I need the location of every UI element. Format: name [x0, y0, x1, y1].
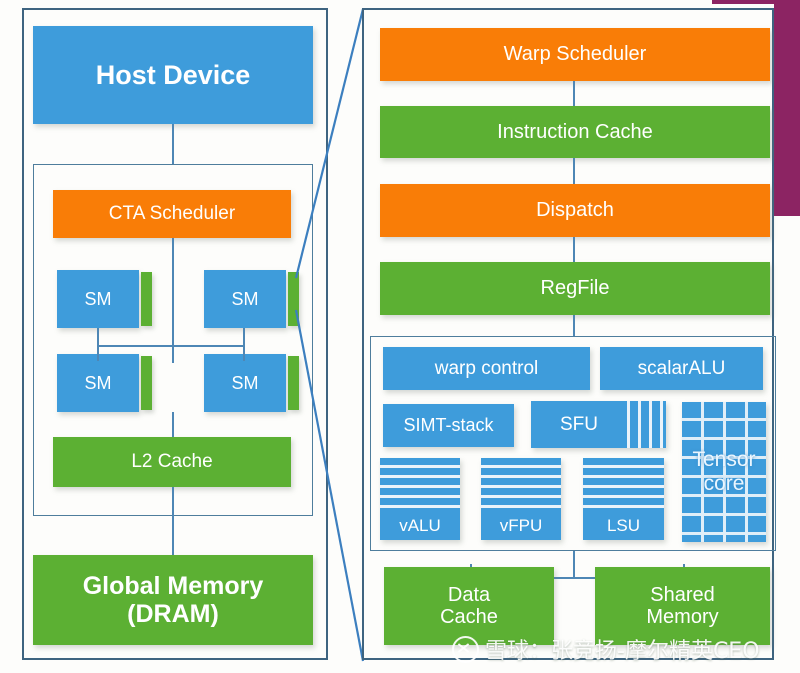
scalar-alu-label: scalarALU [638, 358, 726, 379]
warp-control-block[interactable]: warp control [383, 347, 590, 390]
sm-block-2-accent-bar [288, 272, 299, 326]
connector-l2-to-dram [172, 487, 174, 556]
tensor-core-label-line2: core [704, 472, 745, 495]
sm-block-3[interactable]: SM [57, 354, 139, 412]
sm-block-1-label: SM [85, 289, 112, 309]
gpu-architecture-diagram: Host Device CTA Scheduler SM SM SM SM L2… [0, 0, 800, 673]
host-device-label: Host Device [96, 60, 251, 90]
warp-scheduler-label: Warp Scheduler [504, 43, 647, 65]
watermark: 雪球：张竞扬-摩尔精英CEO [452, 633, 760, 665]
sm-block-3-label: SM [85, 373, 112, 393]
connector-sm-crossbar [97, 345, 245, 347]
lsu-label: LSU [583, 512, 664, 540]
sfu-block[interactable]: SFU [531, 401, 666, 448]
sm-block-4[interactable]: SM [204, 354, 286, 412]
connector-sm4-up [243, 345, 245, 361]
vfpu-block[interactable]: vFPU [481, 458, 561, 540]
connector-sm2-down [243, 328, 245, 346]
tensor-core-block[interactable]: Tensor core [682, 402, 766, 542]
xueqiu-logo-icon [452, 636, 479, 663]
sm-block-2-label: SM [232, 289, 259, 309]
connector-regfile-to-exec [573, 315, 575, 337]
shared-memory-label-line1: Shared [650, 584, 715, 606]
dispatch-block[interactable]: Dispatch [380, 184, 770, 237]
connector-host-to-gpu [172, 124, 174, 164]
data-cache-label-line1: Data [448, 584, 490, 606]
simt-stack-block[interactable]: SIMT-stack [383, 404, 514, 447]
connector-warp-to-icache [573, 81, 575, 107]
sm-block-1[interactable]: SM [57, 270, 139, 328]
global-memory-label-line2: (DRAM) [127, 600, 219, 628]
connector-sm1-down [97, 328, 99, 346]
sm-block-2[interactable]: SM [204, 270, 286, 328]
cta-scheduler-block[interactable]: CTA Scheduler [53, 190, 291, 238]
sm-block-3-accent-bar [141, 356, 152, 410]
valu-block[interactable]: vALU [380, 458, 460, 540]
vfpu-label: vFPU [481, 512, 561, 540]
tensor-core-label-line1: Tensor [692, 448, 755, 471]
l2-cache-block[interactable]: L2 Cache [53, 437, 291, 487]
sm-block-4-label: SM [232, 373, 259, 393]
connector-sm-to-l2 [172, 412, 174, 438]
regfile-label: RegFile [541, 277, 610, 299]
connector-exec-to-memory-bus [573, 551, 575, 579]
l2-cache-label: L2 Cache [131, 451, 212, 472]
dispatch-label: Dispatch [536, 199, 614, 221]
sm-block-1-accent-bar [141, 272, 152, 326]
watermark-text: 雪球：张竞扬-摩尔精英CEO [485, 633, 760, 665]
global-memory-block[interactable]: Global Memory (DRAM) [33, 555, 313, 645]
sm-block-4-accent-bar [288, 356, 299, 410]
cta-scheduler-label: CTA Scheduler [109, 203, 235, 224]
tensor-core-label: Tensor core [692, 448, 755, 496]
data-cache-label-line2: Cache [440, 606, 498, 628]
global-memory-label-line1: Global Memory [83, 572, 264, 600]
lsu-block[interactable]: LSU [583, 458, 664, 540]
valu-label: vALU [380, 512, 460, 540]
warp-scheduler-block[interactable]: Warp Scheduler [380, 28, 770, 81]
shared-memory-label-line2: Memory [646, 606, 718, 628]
simt-stack-label: SIMT-stack [403, 415, 493, 435]
regfile-block[interactable]: RegFile [380, 262, 770, 315]
connector-dispatch-to-regfile [573, 237, 575, 263]
connector-sm3-up [97, 345, 99, 361]
warp-control-label: warp control [435, 358, 539, 379]
connector-icache-to-dispatch [573, 158, 575, 184]
host-device-block[interactable]: Host Device [33, 26, 313, 124]
instruction-cache-block[interactable]: Instruction Cache [380, 106, 770, 158]
instruction-cache-label: Instruction Cache [497, 121, 653, 143]
sfu-label: SFU [531, 401, 627, 448]
scalar-alu-block[interactable]: scalarALU [600, 347, 763, 390]
